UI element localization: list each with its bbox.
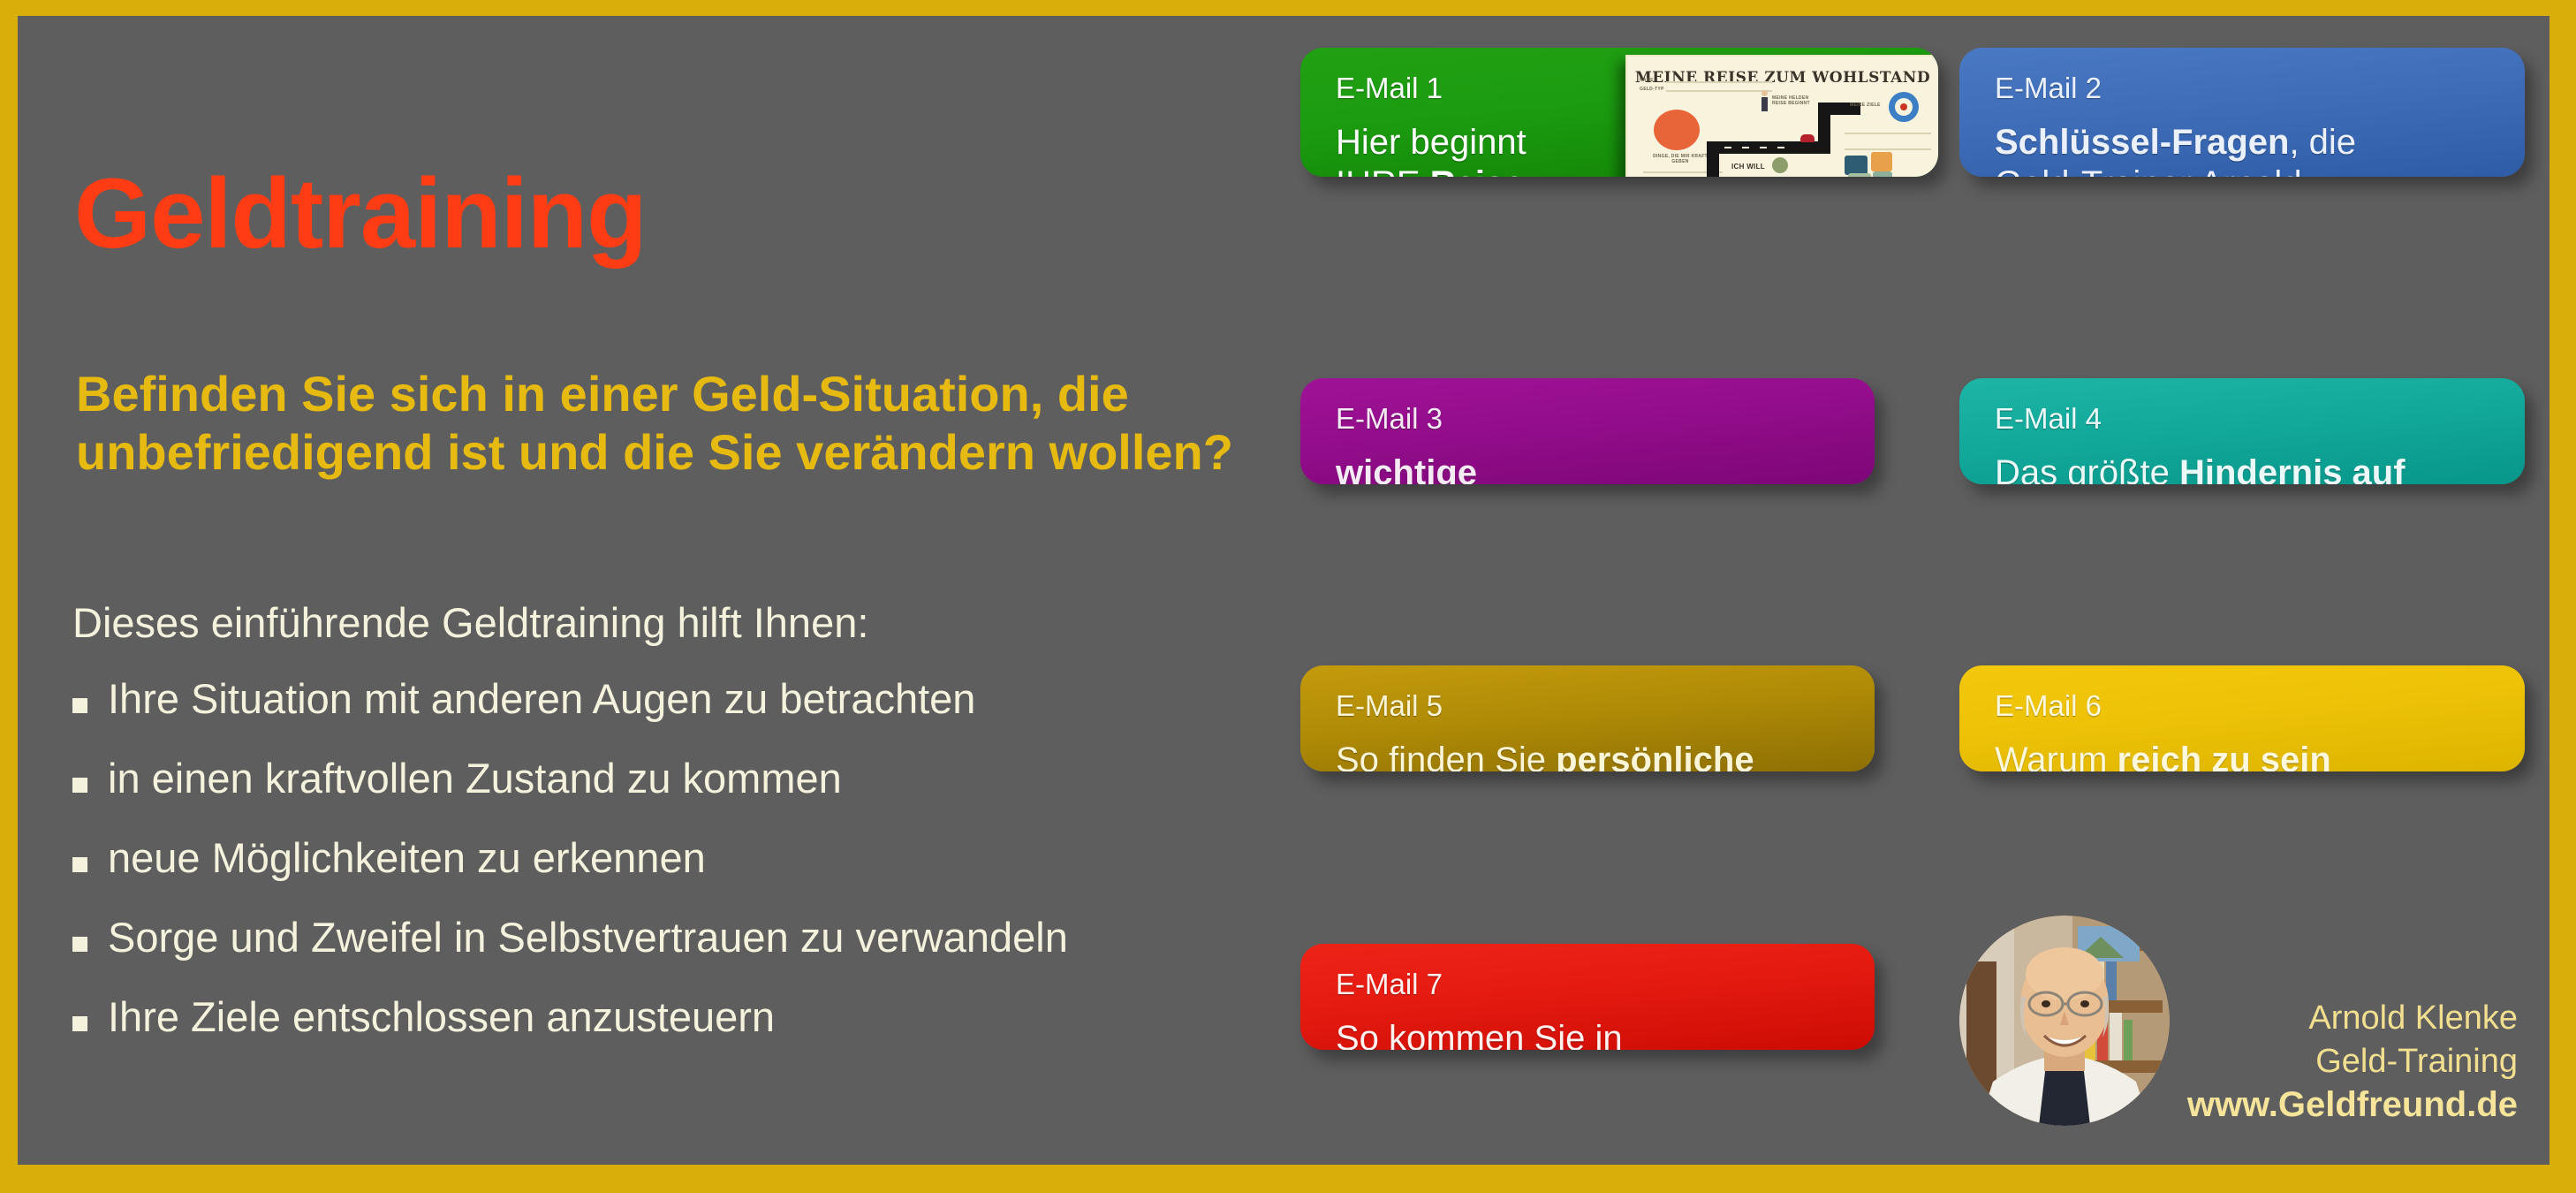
author-website[interactable]: www.Geldfreund.de (2187, 1083, 2518, 1128)
bullet-square-icon (72, 778, 87, 793)
red-car-icon (1800, 134, 1815, 142)
list-item: in einen kraftvollen Zustand zu kommen (72, 756, 1292, 836)
puzzle-piece-icon (1871, 152, 1892, 171)
card5-line1-bold: persönliche (1556, 741, 1754, 771)
email-card-body: So kommen Sie in Ihre Power (1336, 1018, 1845, 1050)
email-card-label: E-Mail 4 (1995, 403, 2495, 435)
slide-canvas: Geldtraining Befinden Sie sich in einer … (18, 16, 2549, 1165)
infographic-rule (1845, 133, 1931, 134)
card2-line1-bold: Schlüssel-Fragen (1995, 123, 2289, 162)
puzzle-piece-icon (1873, 171, 1892, 177)
email-card-5[interactable]: E-Mail 5 So finden Sie persönliche Erfol… (1300, 665, 1875, 771)
road-dash (1777, 147, 1784, 148)
bullet-square-icon (72, 937, 87, 952)
card2-line2: Geld-Trainer Arnold (1995, 164, 2302, 177)
wohlstand-infographic-thumbnail: MEINE REISE ZUM WOHLSTAND NAME GELD-TYP … (1625, 55, 1938, 177)
infographic-title: MEINE REISE ZUM WOHLSTAND (1627, 69, 1938, 87)
email-card-body: Warum reich zu sein für SIE gut ist (1995, 740, 2495, 771)
email-card-4[interactable]: E-Mail 4 Das größte Hindernis auf dem We… (1959, 378, 2525, 484)
page-title: Geldtraining (74, 164, 647, 263)
email-card-label: E-Mail 6 (1995, 690, 2495, 722)
road-dash (1760, 147, 1767, 148)
headline-question: Befinden Sie sich in einer Geld-Situatio… (76, 365, 1277, 482)
author-role: Geld-Training (2187, 1040, 2518, 1083)
infographic-label-name: NAME (1640, 78, 1654, 83)
infographic-rule (1666, 81, 1772, 83)
infographic-label-goals: MEINE ZIELE (1850, 103, 1881, 108)
email-card-label: E-Mail 5 (1336, 690, 1845, 722)
puzzle-piece-icon (1845, 156, 1868, 175)
left-content-column: Geldtraining Befinden Sie sich in einer … (57, 16, 1293, 1165)
email-card-label: E-Mail 2 (1995, 72, 2495, 104)
target-icon-center (1900, 103, 1907, 110)
email-card-grid: E-Mail 1 Hier beginnt IHRE Reise zum Woh… (1300, 16, 2549, 1165)
card1-line2-bold: Reise (1430, 164, 1525, 177)
road-segment (1707, 141, 1719, 177)
person-icon (1762, 97, 1768, 111)
email-card-body: Das größte Hindernis auf dem Weg zum Woh… (1995, 452, 2495, 484)
infographic-rule (1845, 148, 1931, 150)
author-name: Arnold Klenke (2187, 997, 2518, 1040)
email-card-1[interactable]: E-Mail 1 Hier beginnt IHRE Reise zum Woh… (1300, 48, 1938, 177)
bullet-square-icon (72, 857, 87, 872)
list-item: Ihre Ziele entschlossen anzusteuern (72, 995, 1292, 1075)
card6-line1-plain: Warum (1995, 741, 2118, 771)
bullet-square-icon (72, 1016, 87, 1031)
email-card-6[interactable]: E-Mail 6 Warum reich zu sein für SIE gut… (1959, 665, 2525, 771)
person-head-icon (1762, 90, 1768, 96)
list-item: neue Möglichkeiten zu erkennen (72, 836, 1292, 916)
author-block: Arnold Klenke Geld-Training www.Geldfreu… (1959, 916, 2525, 1138)
road-dash (1724, 147, 1731, 148)
card7-line1: So kommen Sie in (1336, 1019, 1623, 1050)
card6-line1-bold: reich zu sein (2118, 741, 2331, 771)
infographic-label-power: DINGE, DIE MIR KRAFT GEBEN (1652, 154, 1708, 164)
bullet-square-icon (72, 698, 87, 713)
email-card-body: wichtige Informationsquellen Link-Liste (1336, 452, 1845, 484)
tree-icon (1772, 157, 1788, 173)
infographic-label-type: GELD-TYP (1640, 87, 1664, 92)
list-item-label: neue Möglichkeiten zu erkennen (108, 836, 706, 879)
list-item-label: Ihre Situation mit anderen Augen zu betr… (108, 677, 975, 720)
list-item: Ihre Situation mit anderen Augen zu betr… (72, 677, 1292, 756)
avatar (1959, 916, 2170, 1126)
email-card-label: E-Mail 3 (1336, 403, 1845, 435)
card3-line1-bold: wichtige (1336, 453, 1477, 484)
email-card-label: E-Mail 7 (1336, 969, 1845, 1000)
road-dash (1742, 147, 1749, 148)
orange-circle-shape (1654, 110, 1700, 150)
card4-line1-bold: Hindernis auf (2179, 453, 2406, 484)
email-card-body: So finden Sie persönliche Erfolgs-Ressou… (1336, 740, 1845, 771)
infographic-label-want: ICH WILL (1731, 163, 1765, 171)
infographic-label-journey: MEINE HELDEN REISE BEGINNT (1772, 95, 1816, 106)
card2-line1-plain: , die (2289, 123, 2356, 162)
avatar-portrait-image (1959, 916, 2170, 1126)
email-card-7[interactable]: E-Mail 7 So kommen Sie in Ihre Power (1300, 944, 1875, 1050)
puzzle-piece-icon (1848, 173, 1871, 177)
email-card-2[interactable]: E-Mail 2 Schlüssel-Fragen, die Geld-Trai… (1959, 48, 2525, 177)
list-item-label: Ihre Ziele entschlossen anzusteuern (108, 995, 775, 1038)
list-item-label: Sorge und Zweifel in Selbstvertrauen zu … (108, 916, 1068, 959)
card1-line1: Hier beginnt (1336, 123, 1527, 162)
benefit-list: Ihre Situation mit anderen Augen zu betr… (72, 677, 1292, 1075)
card1-line2-plain: IHRE (1336, 164, 1430, 177)
email-card-3[interactable]: E-Mail 3 wichtige Informationsquellen Li… (1300, 378, 1875, 484)
lead-paragraph: Dieses einführende Geldtraining hilft Ih… (72, 599, 1274, 647)
card4-line1-plain: Das größte (1995, 453, 2179, 484)
infographic-rule (1666, 90, 1772, 92)
author-signature: Arnold Klenke Geld-Training www.Geldfreu… (2187, 997, 2518, 1128)
list-item-label: in einen kraftvollen Zustand zu kommen (108, 756, 842, 800)
card5-line1-plain: So finden Sie (1336, 741, 1556, 771)
email-card-body: Schlüssel-Fragen, die Geld-Trainer Arnol… (1995, 122, 2495, 177)
list-item: Sorge und Zweifel in Selbstvertrauen zu … (72, 916, 1292, 995)
